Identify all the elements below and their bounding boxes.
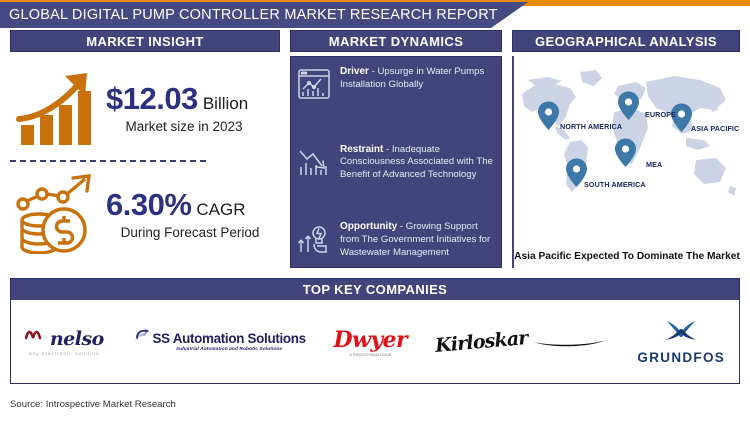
dynamics-label: Opportunity (340, 221, 397, 232)
geographical-analysis-body: NORTH AMERICA EUROPE ASIA PACIFIC MEA SO… (512, 56, 740, 268)
market-insight-heading: MARKET INSIGHT (10, 30, 280, 52)
cagr-row: 6.30%CAGR During Forecast Period (10, 162, 280, 266)
grundfos-x-icon (661, 332, 701, 349)
market-dynamics-body: Driver - Upsurge in Water Pumps Installa… (290, 56, 502, 268)
source-note: Source: Introspective Market Research (10, 399, 176, 410)
geographical-analysis-panel: GEOGRAPHICAL ANALYSIS (512, 30, 740, 270)
dynamics-item-text: Driver - Upsurge in Water Pumps Installa… (340, 65, 493, 92)
market-insight-body: $12.03Billion Market size in 2023 (10, 56, 280, 268)
market-size-unit: Billion (203, 94, 248, 114)
cagr-caption: During Forecast Period (106, 225, 280, 240)
company-name: Kirloskar (434, 327, 528, 357)
company-name: GRUNDFOS (637, 350, 725, 365)
map-label-asia-pacific: ASIA PACIFIC (691, 124, 739, 133)
geo-caption: Asia Pacific Expected To Dominate The Ma… (514, 251, 740, 262)
company-tagline: any electronic solution (25, 351, 104, 356)
market-dynamics-panel: MARKET DYNAMICS Driver - Upsurge in W (290, 30, 502, 270)
company-logo-nelso: nelso any electronic solution (25, 328, 104, 356)
cagr-unit: CAGR (196, 200, 245, 220)
company-name: SS Automation Solutions (153, 331, 306, 346)
map-label-south-america: SOUTH AMERICA (584, 180, 646, 189)
declining-chart-icon (297, 143, 333, 184)
company-logo-grundfos: GRUNDFOS (637, 319, 725, 365)
dynamics-label: Restraint (340, 144, 383, 155)
dynamics-item-text: Opportunity - Growing Support from The G… (340, 220, 493, 260)
dynamics-item-restraint: Restraint - Inadequate Consciousness Ass… (297, 143, 493, 184)
dynamics-label: Driver (340, 66, 369, 77)
page-title: GLOBAL DIGITAL PUMP CONTROLLER MARKET RE… (0, 7, 498, 23)
dynamics-item-opportunity: Opportunity - Growing Support from The G… (297, 220, 493, 261)
panels-container: MARKET INSIGHT $12.03Billion (0, 30, 750, 275)
dynamics-item-driver: Driver - Upsurge in Water Pumps Installa… (297, 65, 493, 106)
market-insight-panel: MARKET INSIGHT $12.03Billion (10, 30, 280, 270)
company-name: Dwyer (334, 327, 407, 353)
market-size-caption: Market size in 2023 (106, 119, 280, 134)
map-label-mea: MEA (646, 160, 662, 169)
cagr-text: 6.30%CAGR During Forecast Period (106, 189, 280, 240)
growth-idea-icon (297, 220, 333, 261)
wave-mark-icon (25, 329, 47, 348)
market-size-value: $12.03 (106, 83, 198, 114)
market-dynamics-heading: MARKET DYNAMICS (290, 30, 502, 52)
coins-growth-icon (10, 174, 106, 254)
dynamics-dash: - (397, 221, 406, 232)
bar-chart-growth-icon (10, 69, 106, 147)
underline-swoosh-icon (532, 335, 610, 352)
dynamics-item-text: Restraint - Inadequate Consciousness Ass… (340, 143, 493, 183)
analytics-dashboard-icon (297, 65, 333, 106)
geographical-analysis-heading: GEOGRAPHICAL ANALYSIS (512, 30, 740, 52)
market-size-row: $12.03Billion Market size in 2023 (10, 56, 280, 160)
arrow-swoosh-icon (132, 327, 150, 356)
map-label-europe: EUROPE (645, 110, 676, 119)
company-logo-dwyer: Dwyer a DwyerOmega brand (334, 327, 407, 357)
dynamics-dash: - (383, 144, 392, 155)
company-name: nelso (50, 328, 104, 350)
report-title-banner: GLOBAL DIGITAL PUMP CONTROLLER MARKET RE… (0, 2, 528, 28)
company-tagline: Industrial Automation and Robotic Soluti… (153, 347, 306, 352)
map-label-north-america: NORTH AMERICA (560, 122, 622, 131)
top-key-companies-panel: TOP KEY COMPANIES nelso any electronic s… (10, 278, 740, 384)
company-logo-list: nelso any electronic solution SS Automat… (11, 300, 739, 383)
cagr-value: 6.30% (106, 189, 191, 220)
world-map (514, 64, 742, 214)
top-key-companies-heading: TOP KEY COMPANIES (11, 279, 739, 300)
company-logo-kirloskar: Kirloskar (435, 331, 610, 353)
company-logo-ss-automation: SS Automation Solutions Industrial Autom… (132, 327, 306, 356)
market-size-text: $12.03Billion Market size in 2023 (106, 83, 280, 134)
